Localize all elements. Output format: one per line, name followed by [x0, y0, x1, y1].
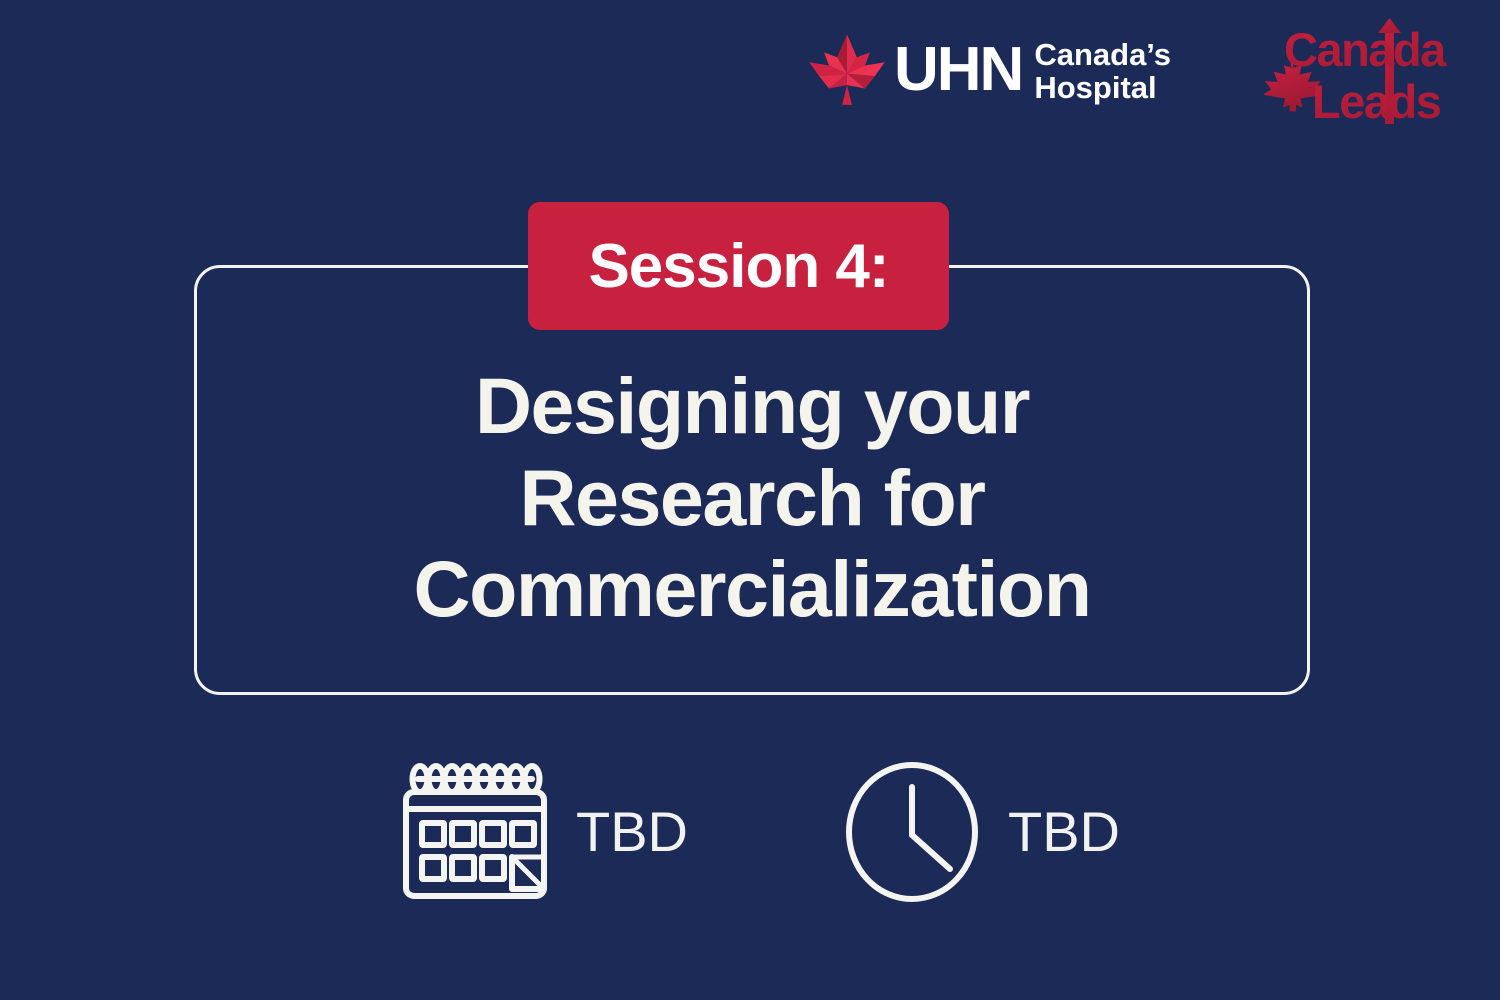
- session-badge-label: Session 4:: [588, 231, 888, 302]
- meta-time: TBD: [842, 752, 1120, 912]
- session-title-line-2: Research for: [230, 452, 1274, 544]
- session-title-line-1: Designing your: [230, 360, 1274, 452]
- uhn-letters: UHN: [894, 41, 1022, 100]
- session-title-line-3: Commercialization: [230, 543, 1274, 635]
- canada-leads-line-2: Leads: [1312, 75, 1441, 126]
- logo-bar: UHN Canada’s Hospital: [0, 0, 1500, 140]
- uhn-tagline-line-2: Hospital: [1034, 71, 1171, 104]
- uhn-tagline-line-1: Canada’s: [1034, 38, 1171, 71]
- session-title: Designing your Research for Commercializ…: [230, 360, 1274, 635]
- calendar-icon: [400, 757, 550, 907]
- meta-time-value: TBD: [1008, 804, 1120, 860]
- maple-leaf-icon: [806, 31, 888, 109]
- meta-date: TBD: [400, 752, 688, 912]
- uhn-logo: UHN Canada’s Hospital: [806, 28, 1171, 112]
- uhn-tagline: Canada’s Hospital: [1034, 38, 1171, 104]
- presentation-slide: UHN Canada’s Hospital: [0, 0, 1500, 1000]
- uhn-wordmark: UHN Canada’s Hospital: [894, 36, 1171, 104]
- canada-leads-line-1: Canada: [1284, 23, 1447, 76]
- clock-icon: [842, 757, 982, 907]
- meta-row: TBD TBD: [0, 752, 1500, 917]
- canada-leads-logo: Canada Leads: [1264, 18, 1464, 126]
- meta-date-value: TBD: [576, 804, 688, 860]
- session-badge: Session 4:: [528, 202, 949, 330]
